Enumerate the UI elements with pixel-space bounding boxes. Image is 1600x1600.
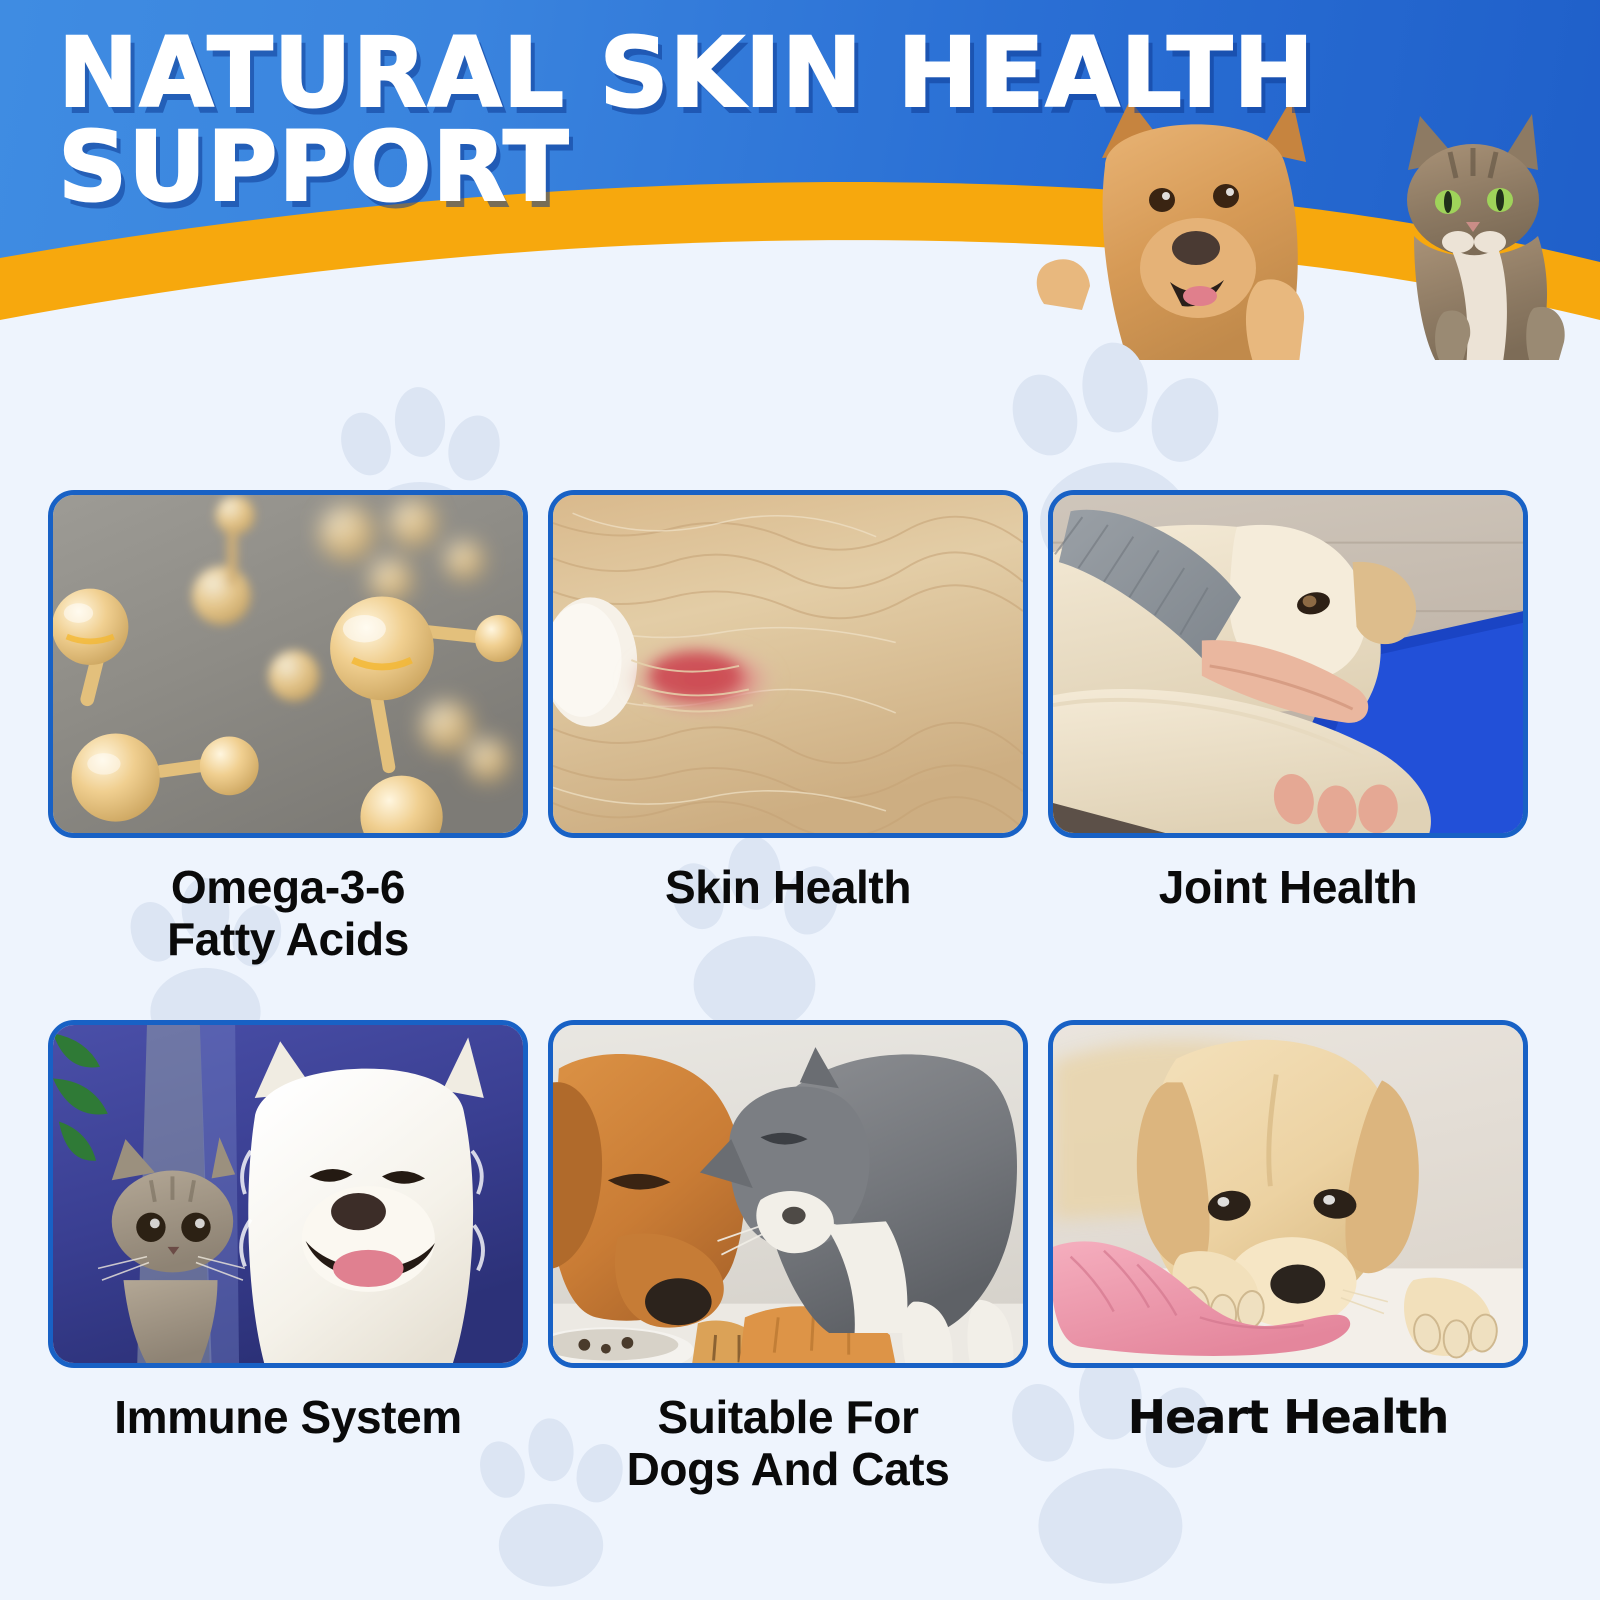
title-line-1: Natural Skin Health bbox=[58, 26, 1078, 120]
benefit-card-heart-health[interactable]: Heart Health bbox=[1048, 1020, 1528, 1444]
benefit-image-frame bbox=[548, 1020, 1028, 1368]
benefit-caption: Omega-3-6 Fatty Acids bbox=[48, 862, 528, 965]
benefit-image-frame bbox=[1048, 490, 1528, 838]
benefit-caption: Immune System bbox=[48, 1392, 528, 1444]
benefit-caption: Skin Health bbox=[548, 862, 1028, 914]
benefit-card-skin-health[interactable]: Skin Health bbox=[548, 490, 1028, 914]
benefit-image-frame bbox=[48, 1020, 528, 1368]
benefit-image-frame bbox=[548, 490, 1028, 838]
caption-line-1: Skin Health bbox=[548, 862, 1028, 914]
caption-line-2: Dogs And Cats bbox=[548, 1444, 1028, 1496]
page-title: Natural Skin Health Support bbox=[58, 26, 1078, 214]
labrador-puppy-pink-glove-photo bbox=[1053, 1025, 1523, 1363]
benefits-grid: Omega-3-6 Fatty Acids bbox=[0, 470, 1600, 1590]
golden-molecule-photo bbox=[53, 495, 523, 833]
benefit-card-immune-system[interactable]: Immune System bbox=[48, 1020, 528, 1444]
dog-eating-with-cat-photo bbox=[553, 1025, 1023, 1363]
cat-and-white-dog-photo bbox=[53, 1025, 523, 1363]
benefit-caption: Joint Health bbox=[1048, 862, 1528, 914]
benefit-card-joint-health[interactable]: Joint Health bbox=[1048, 490, 1528, 914]
caption-line-1: Joint Health bbox=[1048, 862, 1528, 914]
benefit-image-frame bbox=[48, 490, 528, 838]
hand-holding-dog-paw-photo bbox=[1053, 495, 1523, 833]
benefit-caption: Heart Health bbox=[1048, 1392, 1528, 1444]
caption-line-1: Immune System bbox=[48, 1392, 528, 1444]
caption-line-2: Fatty Acids bbox=[48, 914, 528, 966]
header-banner: Natural Skin Health Support bbox=[0, 0, 1600, 360]
benefit-card-suitable-for-dogs-and-cats[interactable]: Suitable For Dogs And Cats bbox=[548, 1020, 1028, 1495]
caption-line-1: Heart Health bbox=[1048, 1392, 1528, 1444]
title-line-2: Support bbox=[58, 120, 1078, 214]
dog-skin-irritation-photo bbox=[553, 495, 1023, 833]
benefit-card-omega-fatty-acids[interactable]: Omega-3-6 Fatty Acids bbox=[48, 490, 528, 965]
benefit-image-frame bbox=[1048, 1020, 1528, 1368]
caption-line-1: Omega-3-6 bbox=[48, 862, 528, 914]
benefit-caption: Suitable For Dogs And Cats bbox=[548, 1392, 1028, 1495]
caption-line-1: Suitable For bbox=[548, 1392, 1028, 1444]
header-pets-illustration bbox=[1010, 96, 1600, 360]
